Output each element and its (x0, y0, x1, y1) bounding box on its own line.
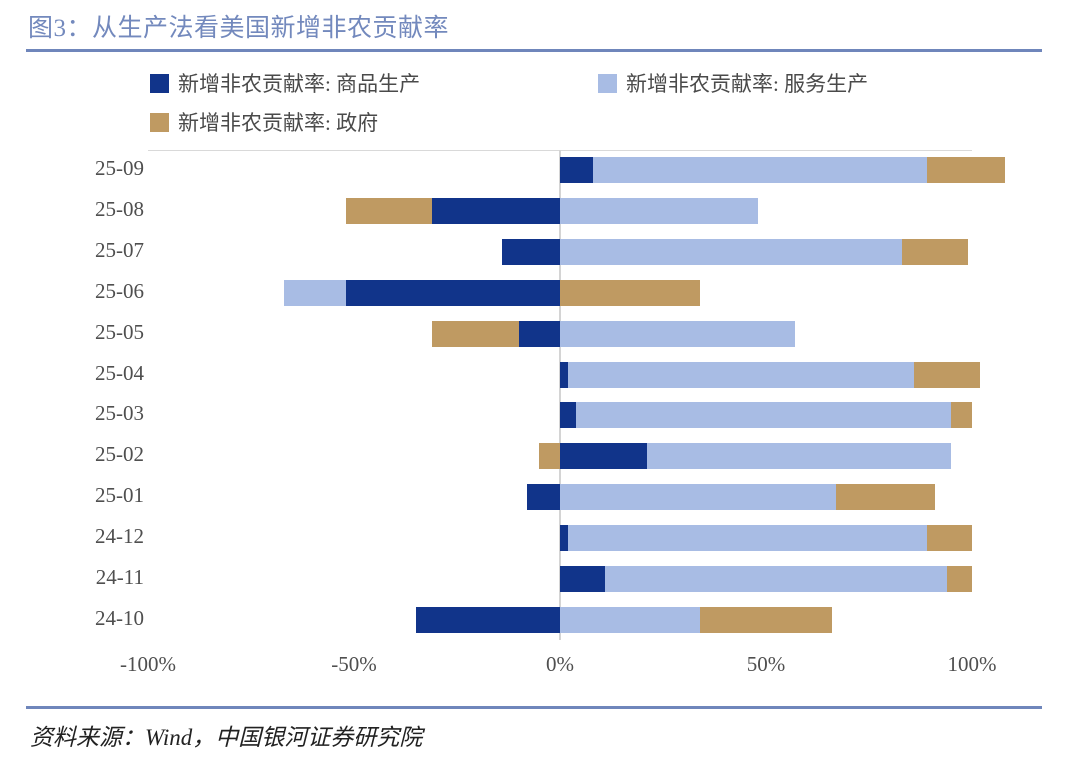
bar-segment (346, 280, 560, 306)
bar-segment (519, 321, 560, 347)
bar-segment (346, 198, 433, 224)
legend-swatch-goods (150, 74, 169, 93)
source-note: 资料来源：Wind，中国银河证券研究院 (30, 718, 422, 752)
bar-segment (568, 525, 926, 551)
bar-row (148, 566, 972, 592)
bar-segment (560, 280, 700, 306)
bar-row (148, 443, 972, 469)
bar-segment (502, 239, 560, 265)
legend-item-services: 新增非农贡献率: 服务生产 (598, 68, 868, 98)
bar-row (148, 239, 972, 265)
legend-item-government: 新增非农贡献率: 政府 (150, 107, 378, 137)
legend-label-government: 新增非农贡献率: 政府 (178, 107, 378, 137)
figure-panel: 图3：从生产法看美国新增非农贡献率 新增非农贡献率: 商品生产 新增非农贡献率:… (0, 0, 1068, 784)
bar-segment (593, 157, 927, 183)
bar-segment (951, 402, 972, 428)
page-title: 图3：从生产法看美国新增非农贡献率 (28, 8, 449, 44)
bar-segment (416, 607, 560, 633)
x-axis-tick-label: 50% (747, 652, 786, 677)
chart-legend: 新增非农贡献率: 商品生产 新增非农贡献率: 服务生产 新增非农贡献率: 政府 (150, 68, 1030, 138)
legend-item-goods: 新增非农贡献率: 商品生产 (150, 68, 420, 98)
x-axis-tick-label: -50% (331, 652, 377, 677)
x-axis-tick-label: 0% (546, 652, 574, 677)
bar-segment (560, 443, 647, 469)
bar-segment (560, 321, 795, 347)
bar-segment (647, 443, 952, 469)
bar-segment (560, 157, 593, 183)
y-axis-tick-label: 25-05 (48, 320, 144, 345)
bar-segment (432, 321, 519, 347)
bar-row (148, 198, 972, 224)
bar-row (148, 157, 972, 183)
bar-segment (560, 525, 568, 551)
bar-segment (560, 566, 605, 592)
title-divider (26, 49, 1042, 52)
bar-segment (560, 198, 758, 224)
x-axis-tick-label: 100% (948, 652, 997, 677)
bar-row (148, 525, 972, 551)
y-axis-tick-label: 25-04 (48, 361, 144, 386)
bar-segment (947, 566, 972, 592)
y-axis-tick-label: 25-09 (48, 156, 144, 181)
bar-segment (605, 566, 947, 592)
bar-segment (432, 198, 560, 224)
bar-row (148, 484, 972, 510)
y-axis-tick-label: 25-06 (48, 279, 144, 304)
y-axis-labels: 25-0925-0825-0725-0625-0525-0425-0325-02… (48, 150, 144, 640)
bar-segment (560, 607, 700, 633)
bar-segment (560, 239, 902, 265)
bar-row (148, 321, 972, 347)
bar-segment (560, 402, 576, 428)
bar-row (148, 607, 972, 633)
y-axis-tick-label: 25-08 (48, 197, 144, 222)
x-axis-tick-label: -100% (120, 652, 176, 677)
y-axis-tick-label: 24-12 (48, 524, 144, 549)
bar-row (148, 402, 972, 428)
legend-swatch-government (150, 113, 169, 132)
bar-segment (927, 525, 972, 551)
bar-row (148, 362, 972, 388)
bar-segment (568, 362, 914, 388)
y-axis-tick-label: 24-11 (48, 565, 144, 590)
bar-segment (927, 157, 1005, 183)
y-axis-tick-label: 25-01 (48, 483, 144, 508)
bar-segment (902, 239, 968, 265)
bar-segment (700, 607, 832, 633)
bar-segment (527, 484, 560, 510)
bar-segment (284, 280, 346, 306)
y-axis-tick-label: 25-03 (48, 401, 144, 426)
bar-segment (560, 484, 836, 510)
bar-segment (539, 443, 560, 469)
bar-segment (560, 362, 568, 388)
bar-segment (576, 402, 951, 428)
x-axis: -100%-50%0%50%100% (148, 640, 972, 680)
legend-label-goods: 新增非农贡献率: 商品生产 (178, 68, 420, 98)
bar-segment (914, 362, 980, 388)
y-axis-tick-label: 24-10 (48, 606, 144, 631)
y-axis-tick-label: 25-02 (48, 442, 144, 467)
bar-row (148, 280, 972, 306)
legend-swatch-services (598, 74, 617, 93)
legend-label-services: 新增非农贡献率: 服务生产 (626, 68, 868, 98)
y-axis-tick-label: 25-07 (48, 238, 144, 263)
source-divider (26, 706, 1042, 709)
plot-area (148, 150, 972, 640)
bar-segment (836, 484, 935, 510)
